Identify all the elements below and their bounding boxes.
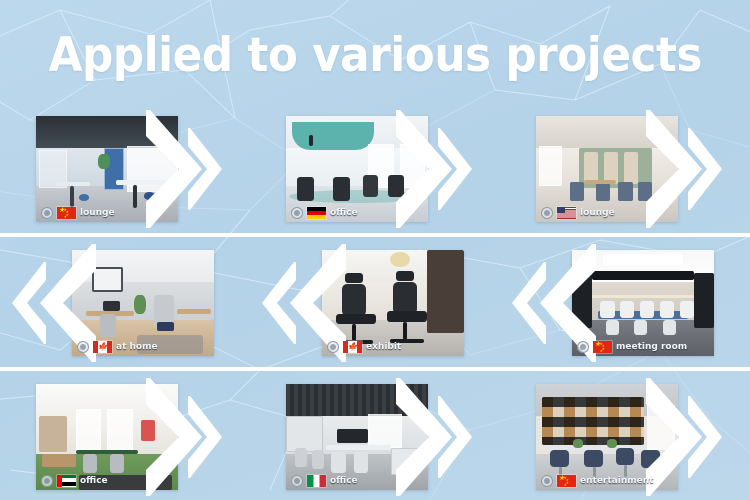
project-photo: office: [286, 116, 428, 222]
card-label-text: entertainment: [580, 476, 653, 486]
card-label-text: office: [330, 476, 358, 486]
brand-emblem-icon: [291, 207, 303, 219]
project-photo: office: [286, 384, 428, 490]
chevron-left-small-icon: [262, 262, 296, 344]
card-label: ★★★★★ lounge: [36, 205, 115, 220]
card-label: ★★★★★ entertainment: [536, 473, 653, 488]
project-row-1: ★★★★★ lounge: [0, 104, 750, 234]
card-label: office: [286, 473, 358, 488]
project-card-at-home-ca[interactable]: 🍁 at home: [0, 238, 250, 368]
chevron-right-small-icon: [688, 396, 722, 478]
project-photo: 🍁 exhibit: [322, 250, 464, 356]
chevron-left-small-icon: [512, 262, 546, 344]
project-photo: ★★★★★ entertainment: [536, 384, 678, 490]
united-states-flag: [557, 207, 576, 219]
project-photo: ★★★★★ meeting room: [572, 250, 714, 356]
project-card-entertainment-cn[interactable]: ★★★★★ entertainment: [500, 372, 750, 500]
china-flag: ★★★★★: [57, 207, 76, 219]
chevron-left-small-icon: [12, 262, 46, 344]
project-row-2: 🍁 at home: [0, 238, 750, 368]
card-label-text: exhibit: [366, 342, 401, 352]
project-card-lounge-cn[interactable]: ★★★★★ lounge: [0, 104, 250, 234]
brand-emblem-icon: [541, 475, 553, 487]
germany-flag: [307, 207, 326, 219]
chevron-right-small-icon: [688, 128, 722, 210]
project-card-meeting-room-cn[interactable]: ★★★★★ meeting room: [500, 238, 750, 368]
united-arab-emirates-flag: [57, 475, 76, 487]
italy-flag: [307, 475, 326, 487]
project-card-exhibit-ca[interactable]: 🍁 exhibit: [250, 238, 500, 368]
card-label: 🍁 exhibit: [322, 339, 401, 354]
chevron-right-small-icon: [188, 396, 222, 478]
chevron-right-small-icon: [188, 128, 222, 210]
card-label: office: [36, 473, 108, 488]
page-title: Applied to various projects: [48, 32, 701, 79]
card-label-text: office: [80, 476, 108, 486]
brand-emblem-icon: [541, 207, 553, 219]
card-label-text: lounge: [580, 208, 615, 218]
brand-emblem-icon: [291, 475, 303, 487]
card-label-text: office: [330, 208, 358, 218]
chevron-right-small-icon: [438, 128, 472, 210]
project-photo: 🍁 at home: [72, 250, 214, 356]
project-photo: lounge: [536, 116, 678, 222]
brand-emblem-icon: [577, 341, 589, 353]
canada-flag: 🍁: [343, 341, 362, 353]
brand-emblem-icon: [77, 341, 89, 353]
brand-emblem-icon: [41, 207, 53, 219]
card-label-text: meeting room: [616, 342, 687, 352]
project-card-office-de[interactable]: office: [250, 104, 500, 234]
project-photo: office: [36, 384, 178, 490]
project-photo: ★★★★★ lounge: [36, 116, 178, 222]
project-card-lounge-us[interactable]: lounge: [500, 104, 750, 234]
project-card-office-it[interactable]: office: [250, 372, 500, 500]
card-label: office: [286, 205, 358, 220]
china-flag: ★★★★★: [593, 341, 612, 353]
card-label: 🍁 at home: [72, 339, 158, 354]
card-label: lounge: [536, 205, 615, 220]
card-label-text: lounge: [80, 208, 115, 218]
chevron-right-small-icon: [438, 396, 472, 478]
canada-flag: 🍁: [93, 341, 112, 353]
brand-emblem-icon: [41, 475, 53, 487]
project-card-office-ae[interactable]: office: [0, 372, 250, 500]
card-label: ★★★★★ meeting room: [572, 339, 687, 354]
brand-emblem-icon: [327, 341, 339, 353]
card-label-text: at home: [116, 342, 158, 352]
china-flag: ★★★★★: [557, 475, 576, 487]
poster-title-container: Applied to various projects: [0, 14, 750, 96]
poster: Applied to various projects: [0, 0, 750, 500]
project-row-3: office: [0, 372, 750, 500]
